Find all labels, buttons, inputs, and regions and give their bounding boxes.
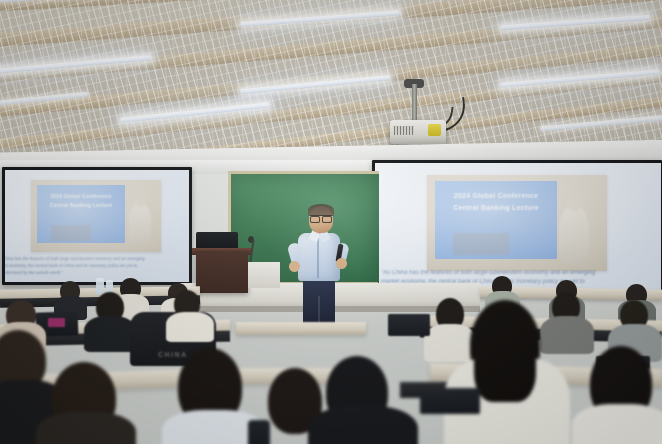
audience-body xyxy=(308,406,418,444)
right-slide-photo-block: 2024 Global Conference Central Banking L… xyxy=(427,175,607,271)
audience-body xyxy=(424,324,476,362)
left-slide-quote-line2: market economy, the central bank of Chin… xyxy=(5,263,189,269)
water-bottle xyxy=(96,278,104,295)
speaker-shirt-placket xyxy=(317,236,319,278)
right-screen-surface: 2024 Global Conference Central Banking L… xyxy=(375,163,661,293)
left-slide-speaker-head xyxy=(134,193,147,207)
left-slide-photo-block: 2024 Global Conference Central Banking L… xyxy=(31,180,161,252)
left-projection-screen: 2024 Global Conference Central Banking L… xyxy=(2,167,192,285)
laptop xyxy=(388,314,430,336)
right-slide-inner-slide: 2024 Global Conference Central Banking L… xyxy=(435,181,557,259)
left-slide-inner-slide: 2024 Global Conference Central Banking L… xyxy=(37,185,125,243)
laptop-sticker xyxy=(48,318,65,327)
right-slide-speaker-head xyxy=(566,192,583,211)
lecture-hall-photo: 2024 Global Conference Central Banking L… xyxy=(0,0,662,444)
audience-hair xyxy=(474,306,536,402)
projector-vent xyxy=(394,126,414,135)
left-slide-title-line1: 2024 Global Conference xyxy=(37,194,125,200)
laptop xyxy=(420,388,480,414)
left-screen-surface: 2024 Global Conference Central Banking L… xyxy=(5,170,189,282)
desk-row xyxy=(236,322,366,335)
left-slide-inner-podium xyxy=(51,225,91,241)
phone xyxy=(248,420,270,444)
lectern xyxy=(196,251,248,293)
speaker-left-hand xyxy=(289,261,300,272)
speaker-shirt xyxy=(298,233,340,281)
left-slide-quote-line1: "As China has the features of both large… xyxy=(5,256,189,262)
audience-body xyxy=(572,404,662,444)
podium-side-cabinet xyxy=(248,262,280,288)
right-slide-speaker-body xyxy=(559,205,589,265)
left-slide-quote-line3: be understood by the outside world." xyxy=(5,270,189,276)
backpack-label: CHINA xyxy=(158,352,188,359)
right-projection-screen: 2024 Global Conference Central Banking L… xyxy=(372,160,662,295)
speaker-glasses xyxy=(310,215,332,221)
right-slide-quote-line1: "As China has the features of both large… xyxy=(381,269,661,277)
projector-lens xyxy=(428,124,441,136)
right-slide-title-line2: Central Banking Lecture xyxy=(435,205,557,212)
speaker-right-hand xyxy=(336,258,347,269)
audience-body xyxy=(84,316,136,352)
left-slide-title-line2: Central Banking Lecture xyxy=(37,203,125,209)
right-slide-title-line1: 2024 Global Conference xyxy=(435,193,557,200)
audience-body xyxy=(36,412,136,444)
audience-body xyxy=(166,312,214,342)
audience-body xyxy=(540,316,594,354)
left-slide-speaker-body xyxy=(129,202,151,246)
right-slide-inner-podium xyxy=(453,233,509,255)
